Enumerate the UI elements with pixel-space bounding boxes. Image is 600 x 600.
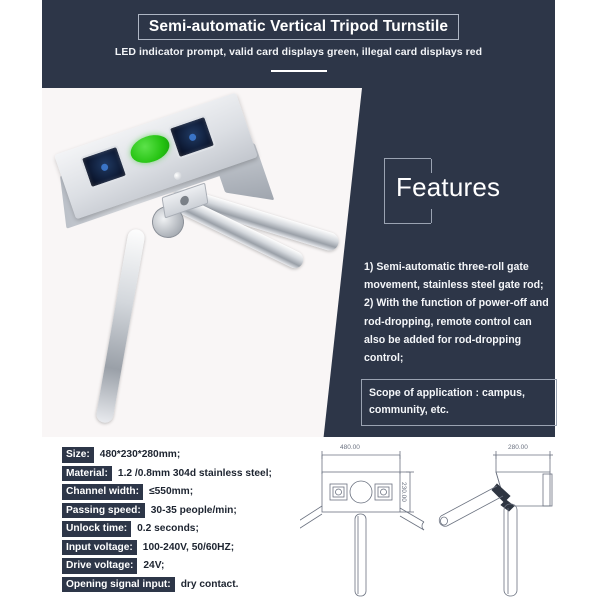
feature-item: 2) With the function of power-off and ro… — [364, 294, 552, 367]
spec-label: Opening signal input: — [62, 577, 175, 593]
top-view-drawing — [300, 451, 424, 596]
hero-title-container: Semi-automatic Vertical Tripod Turnstile — [42, 14, 555, 40]
features-heading: Features — [396, 172, 500, 203]
spec-value: 30-35 people/min; — [151, 505, 237, 516]
spec-value: 1.2 /0.8mm 304d stainless steel; — [118, 468, 272, 479]
features-list: 1) Semi-automatic three-roll gate moveme… — [364, 258, 552, 367]
spec-label: Passing speed: — [62, 503, 145, 519]
spec-label: Channel width: — [62, 484, 143, 500]
spec-value: ≤550mm; — [149, 486, 193, 497]
title-divider — [271, 70, 327, 72]
spec-row: Size: 480*230*280mm; — [62, 447, 312, 463]
side-view-drawing — [439, 451, 553, 596]
hero-subtitle: LED indicator prompt, valid card display… — [42, 46, 555, 58]
technical-drawings: 480.00 230.00 280.00 — [300, 444, 600, 600]
spec-row: Material: 1.2 /0.8mm 304d stainless stee… — [62, 466, 312, 482]
spec-value: 480*230*280mm; — [100, 449, 180, 460]
specifications-table: Size: 480*230*280mm; Material: 1.2 /0.8m… — [62, 447, 312, 595]
dimension-label-depth: 230.00 — [400, 482, 407, 502]
spec-row: Unlock time: 0.2 seconds; — [62, 521, 312, 537]
spec-label: Material: — [62, 466, 112, 482]
spec-label: Unlock time: — [62, 521, 131, 537]
spec-row: Passing speed: 30-35 people/min; — [62, 503, 312, 519]
spec-row: Drive voltage: 24V; — [62, 558, 312, 574]
spec-label: Input voltage: — [62, 540, 137, 556]
spec-row: Opening signal input: dry contact. — [62, 577, 312, 593]
spec-row: Channel width: ≤550mm; — [62, 484, 312, 500]
spec-row: Input voltage: 100-240V, 50/60HZ; — [62, 540, 312, 556]
feature-item: 1) Semi-automatic three-roll gate moveme… — [364, 258, 552, 294]
spec-value: 0.2 seconds; — [137, 523, 199, 534]
scope-of-application-box: Scope of application : campus, community… — [361, 379, 557, 426]
product-photo-stage — [42, 88, 362, 437]
page-title: Semi-automatic Vertical Tripod Turnstile — [138, 14, 459, 40]
product-photo-panel — [42, 88, 362, 437]
tripod-turnstile-photo — [52, 102, 352, 432]
spec-value: 24V; — [143, 560, 164, 571]
spec-label: Size: — [62, 447, 94, 463]
dimension-label-side-width: 280.00 — [508, 444, 528, 451]
turnstile-arm-lower — [95, 228, 146, 424]
spec-value: dry contact. — [181, 579, 239, 590]
spec-label: Drive voltage: — [62, 558, 137, 574]
spec-value: 100-240V, 50/60HZ; — [143, 542, 234, 553]
dimension-label-width: 480.00 — [340, 444, 360, 451]
